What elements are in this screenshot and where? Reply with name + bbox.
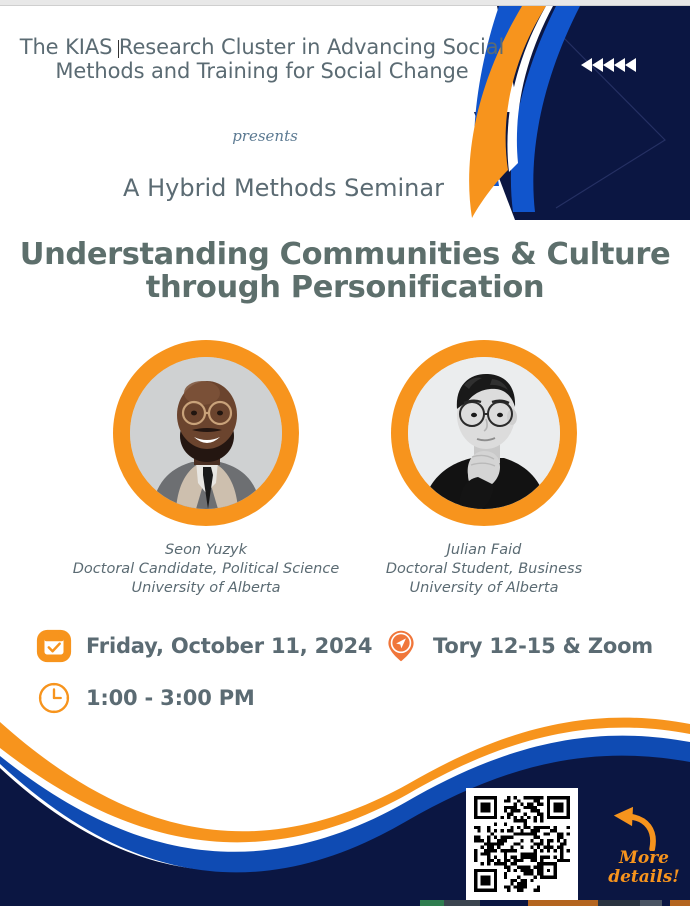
organization-line: The KIAS Research Cluster in Advancing S…: [16, 36, 508, 83]
taskbar-segment[interactable]: [640, 900, 662, 906]
map-pin-icon: [381, 626, 421, 666]
speaker-card: Julian Faid Doctoral Student, Business U…: [334, 340, 634, 598]
os-taskbar-strip[interactable]: [0, 900, 690, 906]
qr-code-image: [474, 796, 570, 892]
taskbar-segment[interactable]: [598, 900, 640, 906]
portrait-julian-faid: [408, 357, 560, 509]
taskbar-segment[interactable]: [662, 900, 670, 906]
speaker-institution: University of Alberta: [334, 579, 634, 598]
event-date-text: Friday, October 11, 2024: [86, 634, 372, 658]
taskbar-segment[interactable]: [528, 900, 598, 906]
event-date-row: Friday, October 11, 2024: [34, 626, 372, 666]
qr-code[interactable]: [466, 788, 578, 900]
event-type-label: A Hybrid Methods Seminar: [0, 174, 567, 202]
taskbar-segment[interactable]: [480, 900, 528, 906]
portrait-illustration: [130, 357, 282, 509]
event-time-text: 1:00 - 3:00 PM: [86, 686, 255, 710]
speaker-card: Seon Yuzyk Doctoral Candidate, Political…: [56, 340, 356, 598]
calendar-check-icon: [34, 626, 74, 666]
event-time-row: 1:00 - 3:00 PM: [34, 678, 255, 718]
portrait-seon-yuzyk: [130, 357, 282, 509]
title-line-1: Understanding Communities & Culture: [10, 238, 680, 271]
browser-chrome-strip: [0, 0, 690, 6]
more-details-line-2: details!: [598, 868, 690, 887]
more-details-label: More details!: [598, 849, 690, 887]
speaker-institution: University of Alberta: [56, 579, 356, 598]
event-location-text: Tory 12-15 & Zoom: [433, 634, 653, 658]
taskbar-segment[interactable]: [670, 900, 690, 906]
speaker-name: Julian Faid: [334, 541, 634, 560]
avatar: [391, 340, 577, 526]
title-line-2: through Personification: [10, 271, 680, 304]
speaker-role: Doctoral Student, Business: [334, 560, 634, 579]
more-details-line-1: More: [598, 849, 690, 868]
page-title: Understanding Communities & Culture thro…: [10, 238, 680, 304]
avatar: [113, 340, 299, 526]
taskbar-segment[interactable]: [444, 900, 480, 906]
presents-label: presents: [0, 127, 530, 145]
speaker-name: Seon Yuzyk: [56, 541, 356, 560]
taskbar-segment[interactable]: [0, 900, 420, 906]
portrait-illustration: [408, 357, 560, 509]
speaker-role: Doctoral Candidate, Political Science: [56, 560, 356, 579]
event-location-row: Tory 12-15 & Zoom: [381, 626, 653, 666]
taskbar-segment[interactable]: [420, 900, 444, 906]
seminar-poster: The KIAS Research Cluster in Advancing S…: [0, 0, 690, 906]
clock-icon: [34, 678, 74, 718]
